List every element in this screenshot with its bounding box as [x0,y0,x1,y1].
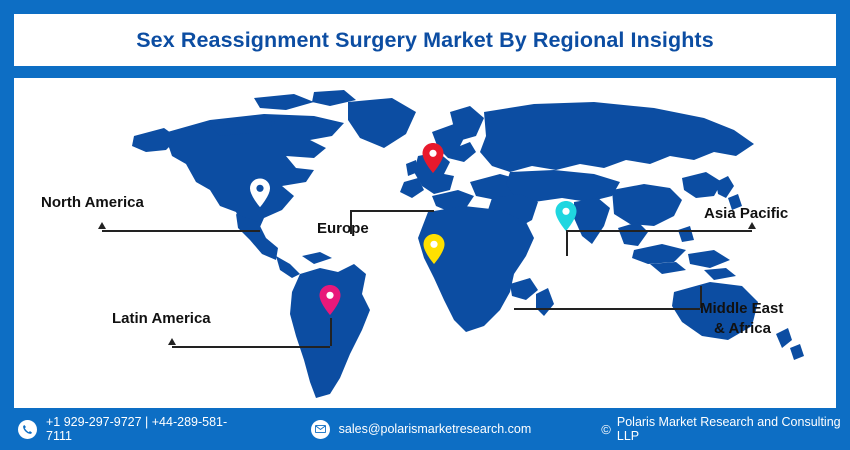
map-pin-asia-pacific[interactable] [555,201,577,231]
leader-arrow-asia-pacific [748,222,756,229]
title-bar: Sex Reassignment Surgery Market By Regio… [14,14,836,66]
footer-email[interactable]: sales@polarismarketresearch.com [311,420,532,439]
map-landmasses [132,90,804,398]
copyright-icon: © [601,422,611,437]
footer-phone-text: +1 929-297-9727 | +44-289-581-7111 [46,415,239,443]
footer-copyright: © Polaris Market Research and Consulting… [601,415,850,443]
region-label-europe: Europe [317,220,369,237]
map-pin-north-america[interactable] [249,178,271,208]
region-label-north-america: North America [41,194,144,211]
region-label-middle-east-africa-line2: & Africa [714,320,771,337]
leader-arrow-north-america [98,222,106,229]
map-pin-europe[interactable] [422,143,444,173]
leader-line-asia-pacific [566,230,752,232]
region-label-middle-east-africa-line1: Middle East [700,300,783,317]
envelope-icon [311,420,330,439]
phone-icon [18,420,37,439]
leader-line-latin-america [172,346,330,348]
map-pin-latin-america[interactable] [319,285,341,315]
footer-bar: +1 929-297-9727 | +44-289-581-7111 sales… [0,408,850,450]
footer-phone[interactable]: +1 929-297-9727 | +44-289-581-7111 [18,415,239,443]
footer-email-text: sales@polarismarketresearch.com [339,422,532,436]
leader-line-middle-east-africa [514,308,700,310]
map-pin-middle-east-africa[interactable] [423,234,445,264]
leader-line-asia-pacific-vertical [566,230,568,256]
region-label-asia-pacific: Asia Pacific [704,205,788,222]
leader-line-north-america [102,230,260,232]
leader-line-latin-america-vertical [330,318,332,346]
leader-line-europe [350,210,434,212]
page-title: Sex Reassignment Surgery Market By Regio… [136,28,714,53]
region-label-latin-america: Latin America [112,310,211,327]
leader-arrow-latin-america [168,338,176,345]
infographic-page: Sex Reassignment Surgery Market By Regio… [0,0,850,450]
footer-copyright-text: Polaris Market Research and Consulting L… [617,415,850,443]
map-panel: North America Europe Asia Pacific Middle… [14,78,836,408]
